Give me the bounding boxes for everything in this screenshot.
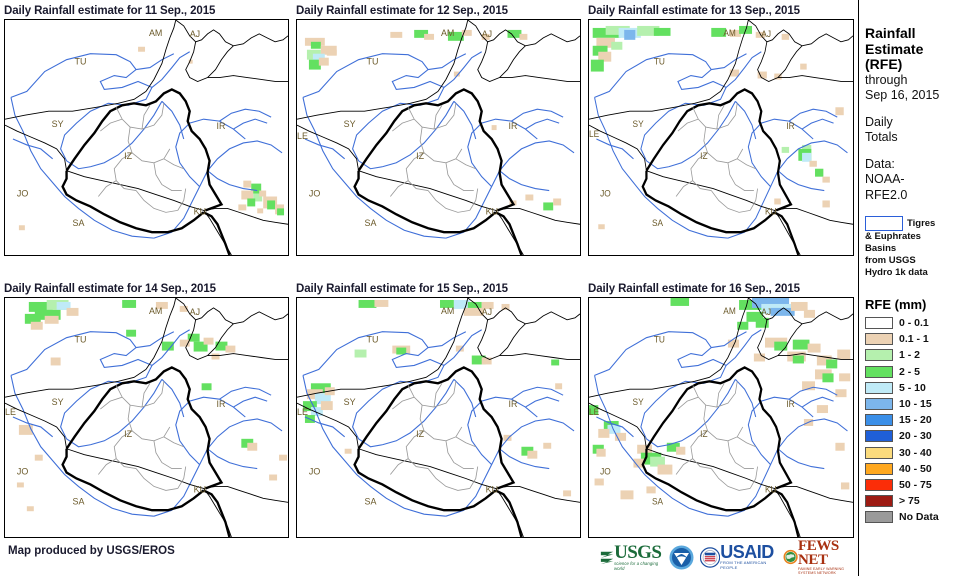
- map-canvas-2: AMAJ TUSY IRIZ JOSA KULE: [297, 20, 580, 255]
- svg-text:KU: KU: [486, 206, 498, 216]
- legend-label-2: 1 - 2: [899, 349, 920, 361]
- svg-text:SY: SY: [344, 119, 356, 129]
- usaid-label: USAID: [720, 544, 776, 560]
- basin-label-3: Basins: [865, 243, 967, 255]
- basin-swatch: [865, 216, 903, 231]
- map-panel-5: Daily Rainfall estimate for 15 Sep., 201…: [296, 282, 581, 538]
- legend-swatch-6: [865, 414, 893, 426]
- data-line1: Data:: [865, 157, 967, 173]
- svg-text:KU: KU: [486, 484, 498, 494]
- map-canvas-1: AMAJ TUSY IRIZ JOSA KU: [5, 20, 288, 255]
- legend-row[interactable]: > 75: [865, 493, 967, 509]
- legend-swatch-9: [865, 463, 893, 475]
- rfe-legend-list: 0 - 0.1 0.1 - 1 1 - 2 2 - 5 5 - 10 10 - …: [865, 315, 967, 525]
- sidebar-totals: Daily Totals: [865, 115, 967, 146]
- legend-label-12: No Data: [899, 511, 939, 523]
- usgs-logo[interactable]: USGS science for a changing world: [600, 544, 663, 570]
- svg-text:SA: SA: [73, 218, 85, 228]
- svg-text:SY: SY: [633, 119, 644, 129]
- panel-title-6: Daily Rainfall estimate for 16 Sep., 201…: [588, 282, 854, 297]
- legend-label-0: 0 - 0.1: [899, 317, 929, 329]
- map-canvas-6: AMAJ TUSY IRIZ JOSA KULE: [589, 298, 853, 537]
- svg-text:JO: JO: [17, 189, 28, 199]
- sidebar-title: Rainfall Estimate (RFE): [865, 26, 967, 73]
- svg-text:SY: SY: [344, 397, 356, 407]
- svg-text:IZ: IZ: [700, 151, 707, 161]
- sidebar-title-line1: Rainfall: [865, 26, 967, 42]
- basin-label-4: from USGS: [865, 255, 967, 267]
- legend-swatch-3: [865, 366, 893, 378]
- svg-text:AJ: AJ: [482, 307, 492, 317]
- legend-swatch-7: [865, 430, 893, 442]
- legend-row[interactable]: 15 - 20: [865, 412, 967, 428]
- legend-swatch-2: [865, 349, 893, 361]
- legend-row[interactable]: 0.1 - 1: [865, 331, 967, 347]
- map-frame-1[interactable]: AMAJ TUSY IRIZ JOSA KU: [4, 19, 289, 256]
- map-panel-3: Daily Rainfall estimate for 13 Sep., 201…: [588, 4, 854, 256]
- panel-title-5: Daily Rainfall estimate for 15 Sep., 201…: [296, 282, 581, 297]
- map-canvas-4: AMAJ TUSY IRIZ JOSA KULE: [5, 298, 288, 537]
- svg-text:AJ: AJ: [482, 29, 492, 39]
- svg-text:AM: AM: [441, 28, 454, 38]
- legend-row[interactable]: 0 - 0.1: [865, 315, 967, 331]
- legend-swatch-4: [865, 382, 893, 394]
- legend-row[interactable]: 30 - 40: [865, 445, 967, 461]
- svg-text:LE: LE: [297, 131, 308, 141]
- sidebar-data-source: Data: NOAA- RFE2.0: [865, 157, 967, 204]
- legend-swatch-5: [865, 398, 893, 410]
- legend-row[interactable]: 5 - 10: [865, 380, 967, 396]
- svg-text:AM: AM: [149, 306, 162, 316]
- map-frame-2[interactable]: AMAJ TUSY IRIZ JOSA KULE: [296, 19, 581, 256]
- legend-sidebar: Rainfall Estimate (RFE) through Sep 16, …: [858, 0, 967, 576]
- svg-text:AM: AM: [723, 306, 735, 316]
- legend-label-7: 20 - 30: [899, 430, 932, 442]
- svg-text:LE: LE: [589, 407, 599, 417]
- noaa-logo[interactable]: [669, 544, 694, 570]
- svg-text:SY: SY: [633, 397, 644, 407]
- svg-text:IR: IR: [509, 399, 518, 409]
- panel-title-3: Daily Rainfall estimate for 13 Sep., 201…: [588, 4, 854, 19]
- legend-label-9: 40 - 50: [899, 463, 932, 475]
- legend-row[interactable]: No Data: [865, 509, 967, 525]
- svg-text:SY: SY: [52, 119, 64, 129]
- map-frame-6[interactable]: AMAJ TUSY IRIZ JOSA KULE: [588, 297, 854, 538]
- legend-row[interactable]: 2 - 5: [865, 364, 967, 380]
- basin-label-5: Hydro 1k data: [865, 267, 967, 279]
- svg-text:SA: SA: [365, 496, 377, 506]
- svg-text:LE: LE: [297, 407, 308, 417]
- legend-row[interactable]: 1 - 2: [865, 347, 967, 363]
- legend-label-10: 50 - 75: [899, 479, 932, 491]
- svg-text:IZ: IZ: [416, 151, 424, 161]
- agency-logos: USGS science for a changing world USAID …: [600, 542, 852, 572]
- basin-label-1: Tigres: [907, 218, 935, 229]
- legend-row[interactable]: 50 - 75: [865, 477, 967, 493]
- svg-text:SA: SA: [73, 496, 85, 506]
- panel-title-2: Daily Rainfall estimate for 12 Sep., 201…: [296, 4, 581, 19]
- svg-text:JO: JO: [600, 466, 611, 476]
- data-line3: RFE2.0: [865, 188, 967, 204]
- totals-line2: Totals: [865, 130, 967, 146]
- legend-label-8: 30 - 40: [899, 447, 932, 459]
- svg-text:JO: JO: [309, 189, 320, 199]
- svg-text:IR: IR: [217, 121, 226, 131]
- svg-text:TU: TU: [75, 57, 87, 67]
- usgs-wave-icon: [600, 548, 614, 566]
- map-canvas-5: AMAJ TUSY IRIZ JOSA KULE: [297, 298, 580, 537]
- svg-text:SA: SA: [652, 496, 663, 506]
- svg-text:TU: TU: [654, 334, 665, 344]
- legend-row[interactable]: 20 - 30: [865, 428, 967, 444]
- totals-line1: Daily: [865, 115, 967, 131]
- legend-swatch-1: [865, 333, 893, 345]
- usgs-tagline: science for a changing world: [614, 561, 663, 571]
- svg-text:AJ: AJ: [761, 307, 771, 317]
- svg-text:KU: KU: [194, 484, 206, 494]
- map-credit: Map produced by USGS/EROS: [8, 545, 175, 557]
- map-panel-4: Daily Rainfall estimate for 14 Sep., 201…: [4, 282, 289, 538]
- legend-row[interactable]: 10 - 15: [865, 396, 967, 412]
- svg-text:AM: AM: [441, 306, 454, 316]
- svg-text:IZ: IZ: [124, 151, 132, 161]
- through-label: through: [865, 73, 967, 89]
- map-canvas-3: AMAJ TUSY IRIZ JOSA KULE: [589, 20, 853, 255]
- rfe-legend-title: RFE (mm): [865, 297, 967, 312]
- svg-text:LE: LE: [589, 129, 599, 139]
- map-frame-3[interactable]: AMAJ TUSY IRIZ JOSA KULE: [588, 19, 854, 256]
- svg-text:IR: IR: [786, 399, 794, 409]
- legend-label-11: > 75: [899, 495, 920, 507]
- basin-label-2: & Euphrates: [865, 231, 967, 243]
- panel-title-4: Daily Rainfall estimate for 14 Sep., 201…: [4, 282, 289, 297]
- svg-text:KU: KU: [194, 206, 206, 216]
- fews-tagline: FAMINE EARLY WARNING SYSTEMS NETWORK: [798, 567, 852, 575]
- svg-text:AM: AM: [149, 28, 162, 38]
- sidebar-through: through Sep 16, 2015: [865, 73, 967, 104]
- legend-swatch-0: [865, 317, 893, 329]
- legend-swatch-8: [865, 447, 893, 459]
- svg-text:TU: TU: [654, 56, 665, 66]
- fews-label: FEWS NET: [798, 539, 852, 567]
- legend-row[interactable]: 40 - 50: [865, 461, 967, 477]
- svg-text:IR: IR: [786, 121, 794, 131]
- svg-text:KU: KU: [765, 484, 777, 494]
- svg-text:IZ: IZ: [124, 429, 132, 439]
- data-line2: NOAA-: [865, 172, 967, 188]
- svg-text:IZ: IZ: [700, 429, 707, 439]
- fews-globe-icon: [783, 545, 798, 569]
- svg-text:JO: JO: [17, 467, 28, 477]
- usgs-label: USGS: [614, 544, 663, 561]
- map-panel-2: Daily Rainfall estimate for 12 Sep., 201…: [296, 4, 581, 256]
- svg-text:AM: AM: [723, 28, 735, 38]
- panel-title-1: Daily Rainfall estimate for 11 Sep., 201…: [4, 4, 289, 19]
- svg-text:JO: JO: [309, 467, 320, 477]
- svg-text:AJ: AJ: [190, 29, 200, 39]
- usaid-seal-icon: [700, 546, 720, 569]
- legend-label-3: 2 - 5: [899, 366, 920, 378]
- svg-text:TU: TU: [367, 57, 379, 67]
- sidebar-title-line3: (RFE): [865, 57, 967, 73]
- fews-logo[interactable]: FEWS NET FAMINE EARLY WARNING SYSTEMS NE…: [783, 544, 852, 570]
- legend-swatch-10: [865, 479, 893, 491]
- through-date: Sep 16, 2015: [865, 88, 967, 104]
- svg-text:IR: IR: [217, 399, 226, 409]
- svg-text:JO: JO: [600, 188, 611, 198]
- usaid-logo[interactable]: USAID FROM THE AMERICAN PEOPLE: [700, 544, 777, 570]
- noaa-seal-icon: [669, 545, 694, 570]
- legend-label-1: 0.1 - 1: [899, 333, 929, 345]
- sidebar-title-line2: Estimate: [865, 42, 967, 58]
- map-panel-6: Daily Rainfall estimate for 16 Sep., 201…: [588, 282, 854, 538]
- svg-text:TU: TU: [367, 335, 379, 345]
- svg-text:KU: KU: [765, 206, 777, 216]
- svg-text:SA: SA: [652, 218, 663, 228]
- basin-legend: Tigres & Euphrates Basins from USGS Hydr…: [865, 216, 967, 279]
- legend-label-5: 10 - 15: [899, 398, 932, 410]
- map-frame-5[interactable]: AMAJ TUSY IRIZ JOSA KULE: [296, 297, 581, 538]
- legend-swatch-11: [865, 495, 893, 507]
- legend-label-6: 15 - 20: [899, 414, 932, 426]
- svg-text:TU: TU: [75, 335, 87, 345]
- map-panel-1: Daily Rainfall estimate for 11 Sep., 201…: [4, 4, 289, 256]
- svg-text:IR: IR: [509, 121, 518, 131]
- legend-swatch-12: [865, 511, 893, 523]
- svg-text:AJ: AJ: [190, 307, 200, 317]
- legend-label-4: 5 - 10: [899, 382, 926, 394]
- map-frame-4[interactable]: AMAJ TUSY IRIZ JOSA KULE: [4, 297, 289, 538]
- svg-text:SA: SA: [365, 218, 377, 228]
- svg-text:SY: SY: [52, 397, 64, 407]
- svg-text:LE: LE: [5, 407, 16, 417]
- svg-text:IZ: IZ: [416, 429, 424, 439]
- svg-text:AJ: AJ: [761, 29, 771, 39]
